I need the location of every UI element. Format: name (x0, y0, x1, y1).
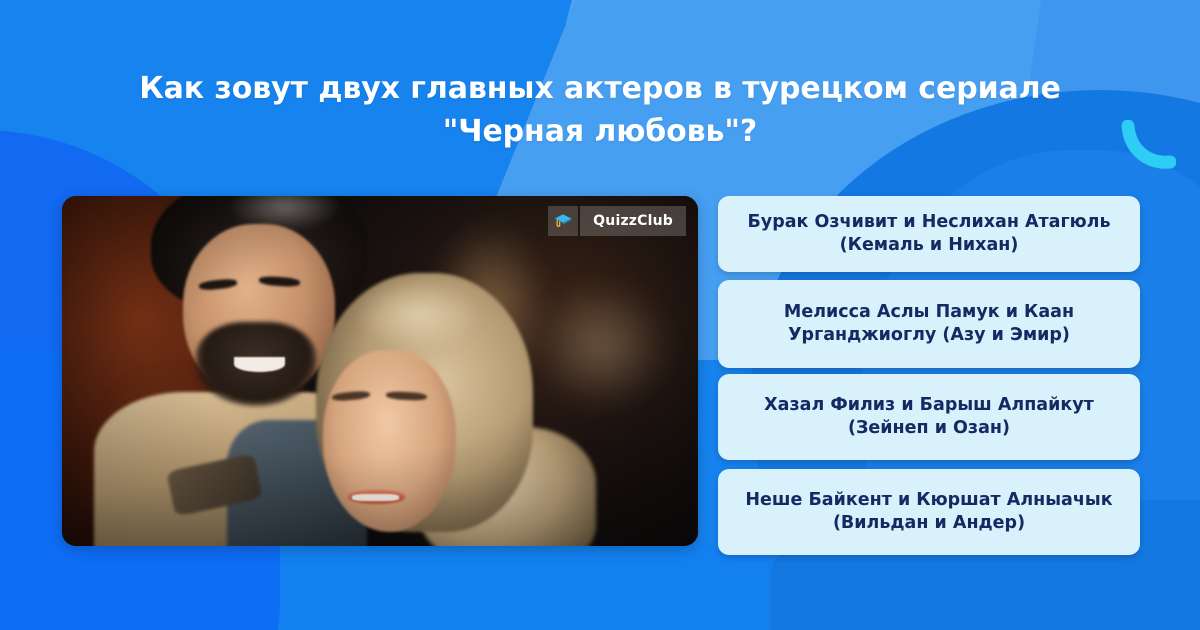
smile-arc-icon (1120, 120, 1176, 176)
answer-options-list: Бурак Озчивит и Неслихан Атагюль (Кемаль… (718, 196, 1140, 555)
answer-option-3-label: Хазал Филиз и Барыш Алпайкут (Зейнеп и О… (734, 394, 1124, 440)
answer-option-1[interactable]: Бурак Озчивит и Неслихан Атагюль (Кемаль… (718, 196, 1140, 272)
answer-option-2[interactable]: Мелисса Аслы Памук и Каан Урганджиоглу (… (718, 280, 1140, 368)
question-image: QuizzClub (62, 196, 698, 546)
answer-option-2-label: Мелисса Аслы Памук и Каан Урганджиоглу (… (734, 301, 1124, 347)
question-title-line-1: Как зовут двух главных актеров в турецко… (110, 68, 1090, 111)
quiz-question-card: Как зовут двух главных актеров в турецко… (0, 0, 1200, 630)
graduation-cap-icon (548, 206, 578, 236)
watermark-badge: QuizzClub (548, 206, 686, 236)
question-image-vignette (62, 196, 698, 546)
answer-option-3[interactable]: Хазал Филиз и Барыш Алпайкут (Зейнеп и О… (718, 374, 1140, 460)
answer-option-4[interactable]: Неше Байкент и Кюршат Алныачык (Вильдан … (718, 469, 1140, 555)
question-title: Как зовут двух главных актеров в турецко… (110, 68, 1090, 153)
answer-option-1-label: Бурак Озчивит и Неслихан Атагюль (Кемаль… (734, 211, 1124, 257)
question-title-line-2: "Черная любовь"? (110, 111, 1090, 154)
watermark-label: QuizzClub (580, 206, 686, 236)
answer-option-4-label: Неше Байкент и Кюршат Алныачык (Вильдан … (734, 489, 1124, 535)
